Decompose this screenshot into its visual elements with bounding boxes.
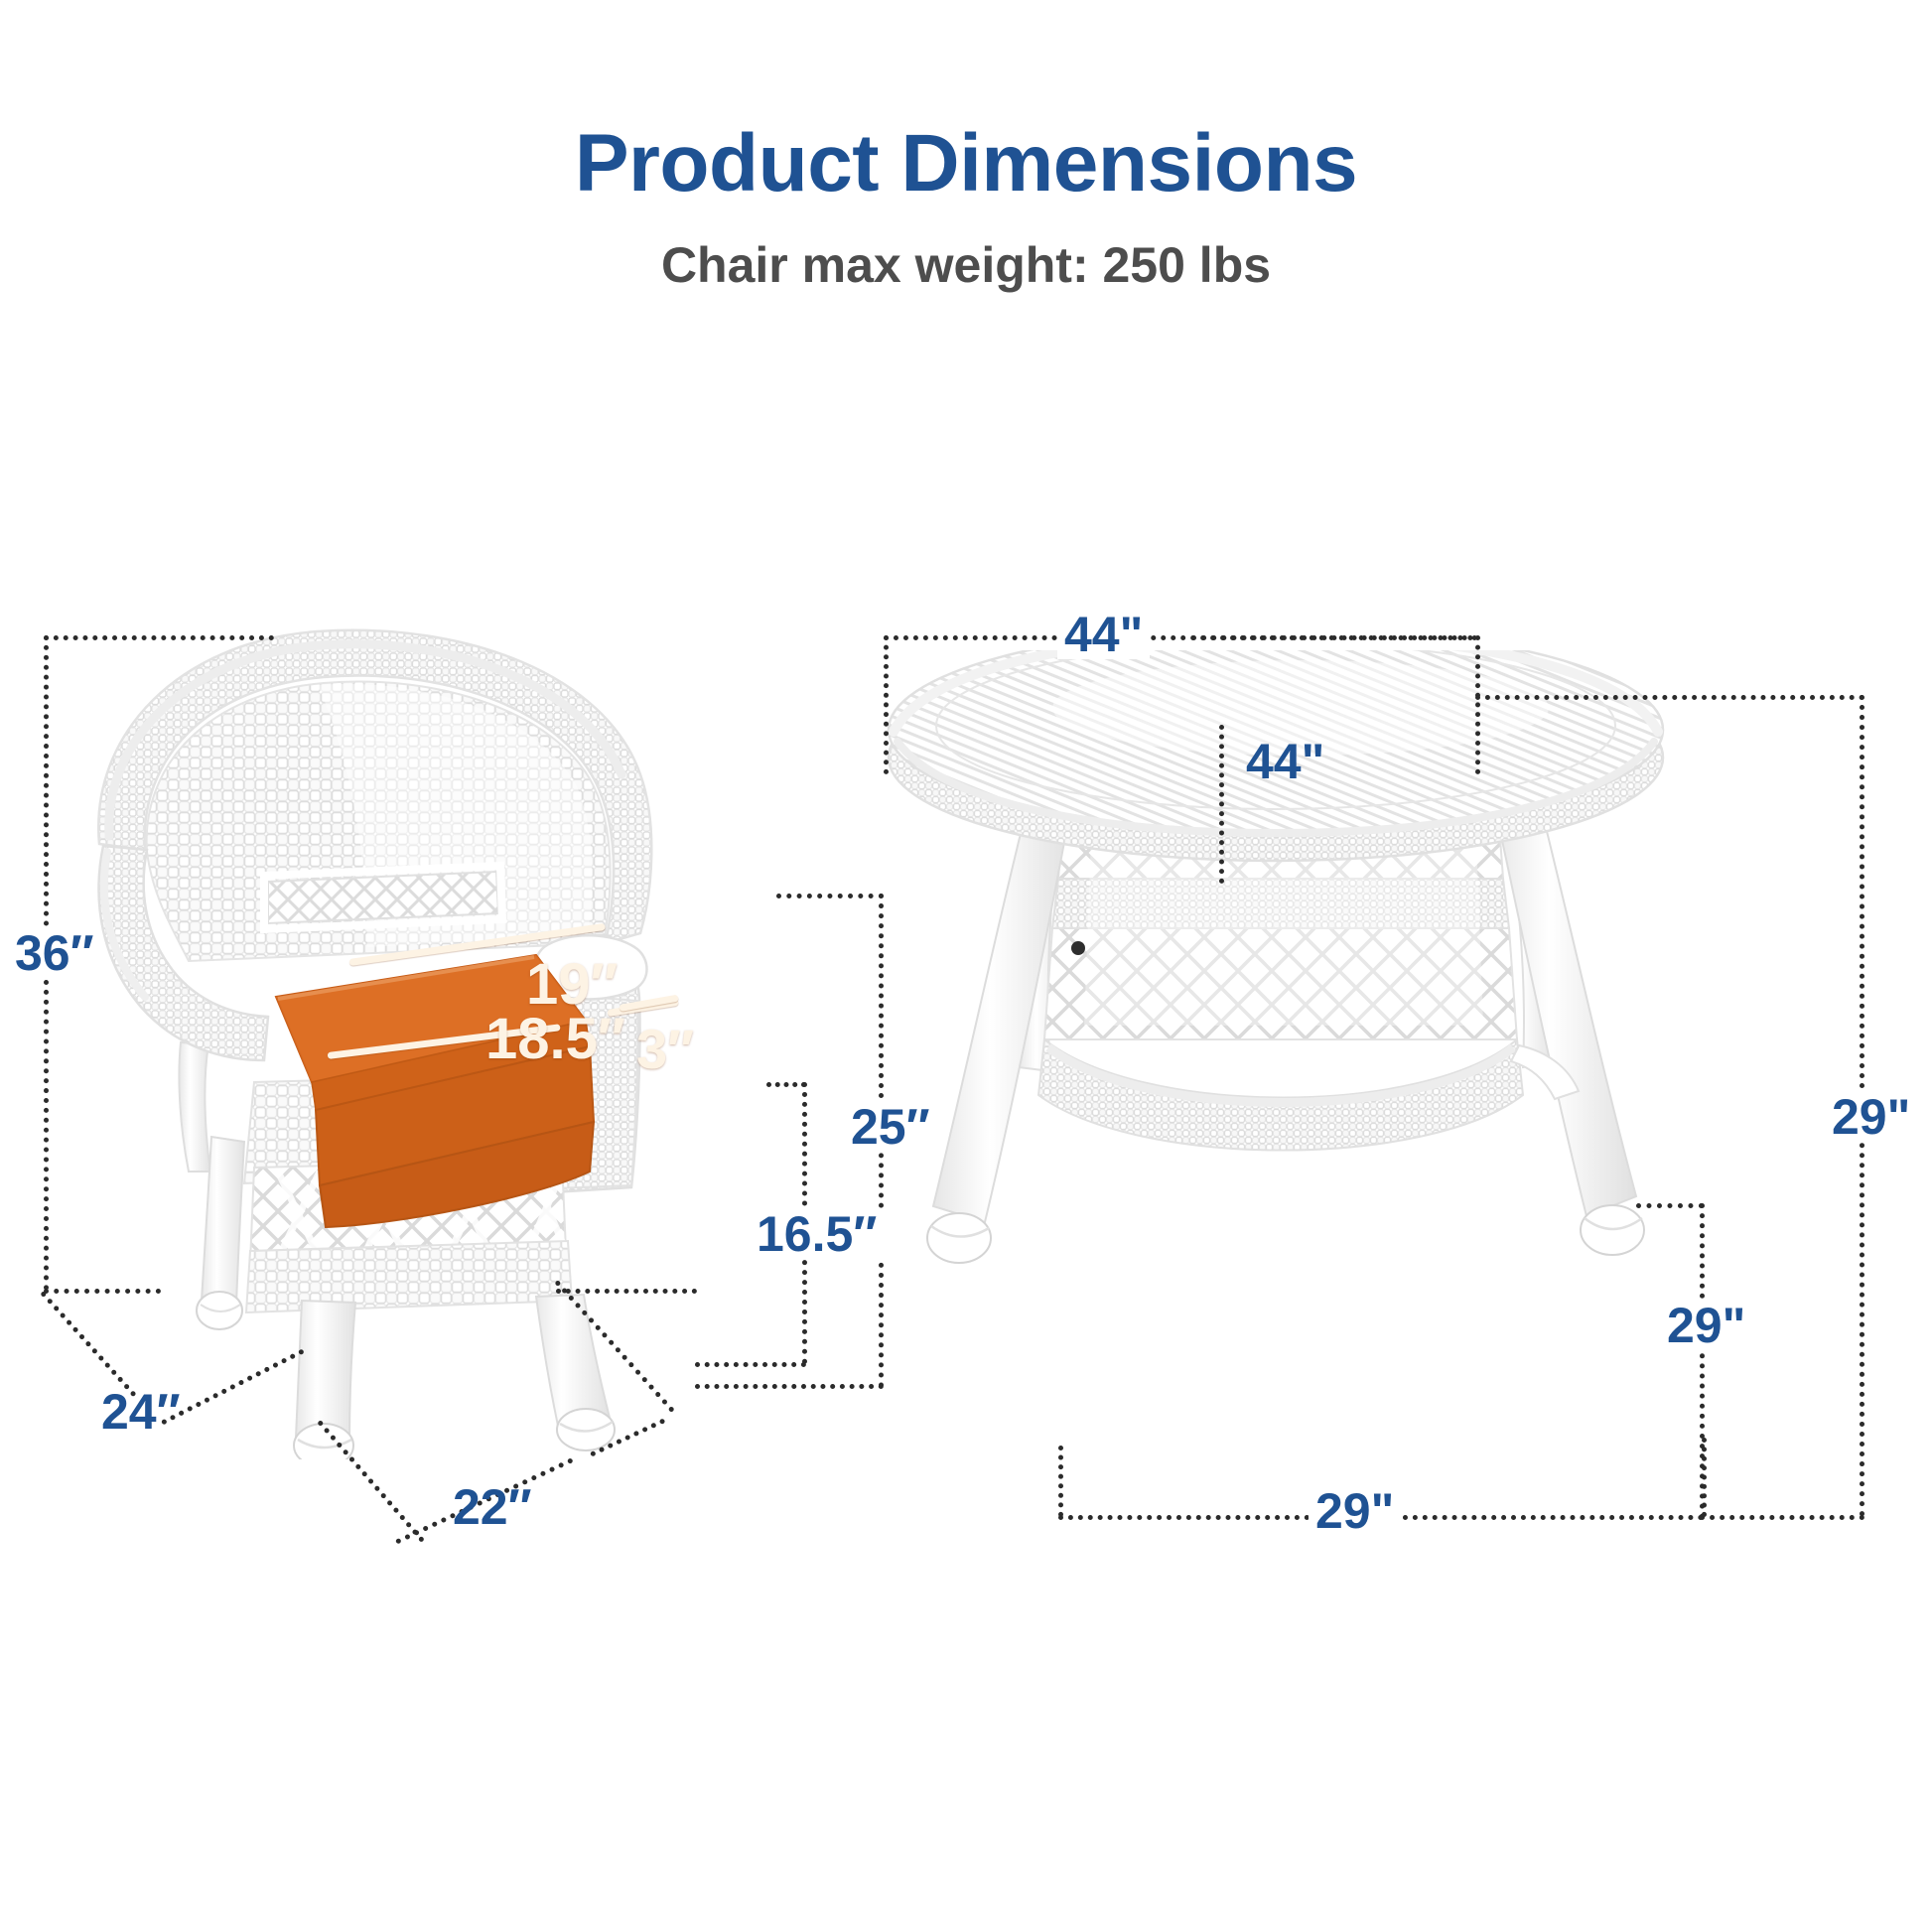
table-top-depth-label: 44" — [1239, 737, 1331, 786]
chair-seat-height-label: 16.5″ — [750, 1209, 884, 1259]
table-depth-guide-centerline — [1219, 725, 1224, 884]
table-height-guide-top — [1475, 695, 1864, 700]
chair-height-guide-top — [44, 635, 274, 640]
page-subtitle: Chair max weight: 250 lbs — [0, 236, 1932, 294]
chair-depth-label: 24″ — [94, 1387, 188, 1437]
table-base-depth-label: 29" — [1660, 1301, 1752, 1350]
table-height-guide-bottom — [1700, 1515, 1864, 1520]
cushion-width-label: 19″ — [526, 956, 618, 1014]
chair-height-guide-bottom — [44, 1289, 161, 1294]
table-width-guide-left — [884, 635, 889, 774]
product-dimensions-diagram: Product Dimensions Chair max weight: 250… — [0, 0, 1932, 1932]
chair-seat-height-guide-top — [766, 1082, 806, 1087]
cushion-thickness-label: 3″ — [636, 1022, 694, 1077]
chair-width-label: 22″ — [446, 1482, 539, 1532]
table-width-guide-right — [1475, 635, 1480, 774]
chair-height-label: 36″ — [8, 928, 101, 978]
table-width-guide-top-right — [1191, 635, 1477, 640]
table-base-depth-guide-top — [1636, 1203, 1704, 1208]
page-title: Product Dimensions — [0, 117, 1932, 210]
cushion-depth-label: 18.5″ — [485, 1011, 625, 1068]
table-height-label: 29" — [1825, 1092, 1917, 1142]
table-top-width-label: 44" — [1057, 610, 1150, 659]
table-base-width-guide-left — [1058, 1446, 1063, 1517]
chair-floor-guide-topright — [556, 1289, 697, 1294]
chair-seat-height-guide-bottom — [695, 1362, 806, 1367]
chair-arm-height-guide-bottom — [695, 1384, 884, 1389]
table-base-width-label: 29" — [1309, 1486, 1401, 1536]
chair-arm-height-guide-top — [776, 894, 884, 898]
table-base-width-guide-right — [1702, 1438, 1707, 1517]
